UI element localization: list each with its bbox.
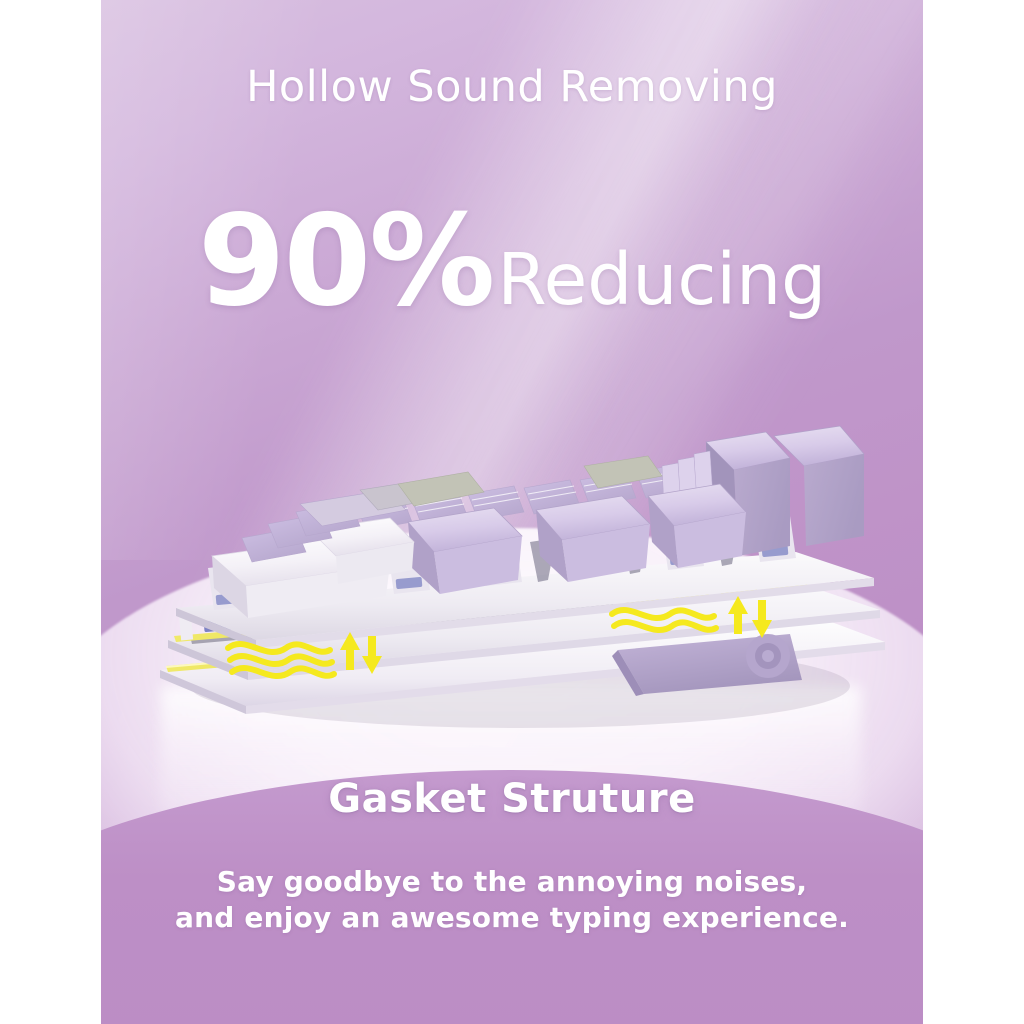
page-headline: Hollow Sound Removing [0,64,1024,111]
product-image-keyboard [150,418,890,748]
stat-descriptor: Reducing [497,244,826,315]
tagline-line-1: Say goodbye to the annoying noises, [0,864,1024,900]
promo-canvas: Hollow Sound Removing 90% Reducing [0,0,1024,1024]
product-tagline: Say goodbye to the annoying noises, and … [0,864,1024,937]
gasket-structure-title: Gasket Struture [0,776,1024,822]
stat-callout: 90% Reducing [0,203,1024,319]
stat-percentage: 90% [198,203,494,319]
keyboard-exploded-illustration [150,418,890,748]
tagline-line-2: and enjoy an awesome typing experience. [0,900,1024,936]
